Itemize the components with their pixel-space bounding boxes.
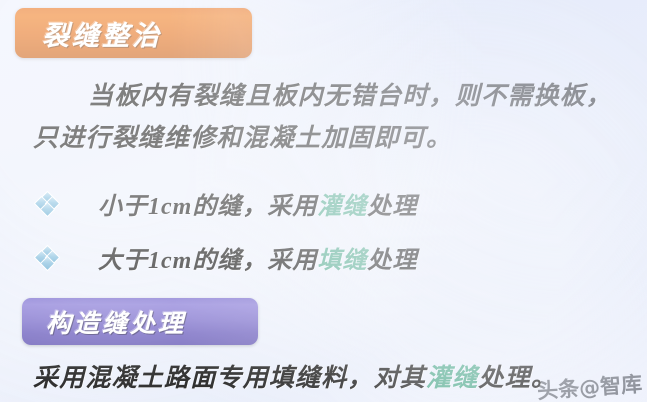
section-banner-construction-joint-label: 构造缝处理 <box>22 304 186 340</box>
bullet-item-2-suffix: 处理 <box>367 248 417 274</box>
section-banner-construction-joint: 构造缝处理 <box>22 298 258 345</box>
section-banner-crack-treatment: 裂缝整治 <box>15 8 252 58</box>
diamond-bullet-icon <box>36 247 58 269</box>
bullet-item-1: 小于1cm的缝，采用灌缝处理 <box>36 186 417 221</box>
bullet-item-2-highlight: 填缝 <box>317 248 367 274</box>
section-banner-crack-treatment-label: 裂缝整治 <box>15 14 162 53</box>
bullet-item-2-text: 大于1cm的缝，采用填缝处理 <box>98 240 417 275</box>
bullet-item-2-prefix: 大于1cm的缝，采用 <box>98 248 317 274</box>
slide-canvas: 裂缝整治 当板内有裂缝且板内无错台时，则不需换板， 只进行裂缝维修和混凝土加固即… <box>0 0 647 402</box>
bullet-item-1-suffix: 处理 <box>367 194 417 220</box>
diamond-bullet-icon <box>36 193 58 215</box>
closing-line: 采用混凝土路面专用填缝料，对其灌缝处理。 <box>33 358 557 394</box>
bullet-item-1-text: 小于1cm的缝，采用灌缝处理 <box>98 186 417 221</box>
paragraph-line-2: 只进行裂缝维修和混凝土加固即可。 <box>33 118 452 154</box>
bullet-item-1-highlight: 灌缝 <box>317 194 367 220</box>
closing-line-highlight: 灌缝 <box>426 365 478 392</box>
bullet-item-2: 大于1cm的缝，采用填缝处理 <box>36 240 417 275</box>
paragraph-line-1: 当板内有裂缝且板内无错台时，则不需换板， <box>88 76 612 112</box>
closing-line-prefix: 采用混凝土路面专用填缝料，对其 <box>33 365 426 392</box>
bullet-item-1-prefix: 小于1cm的缝，采用 <box>98 194 317 220</box>
closing-line-suffix: 处理。 <box>478 365 557 392</box>
